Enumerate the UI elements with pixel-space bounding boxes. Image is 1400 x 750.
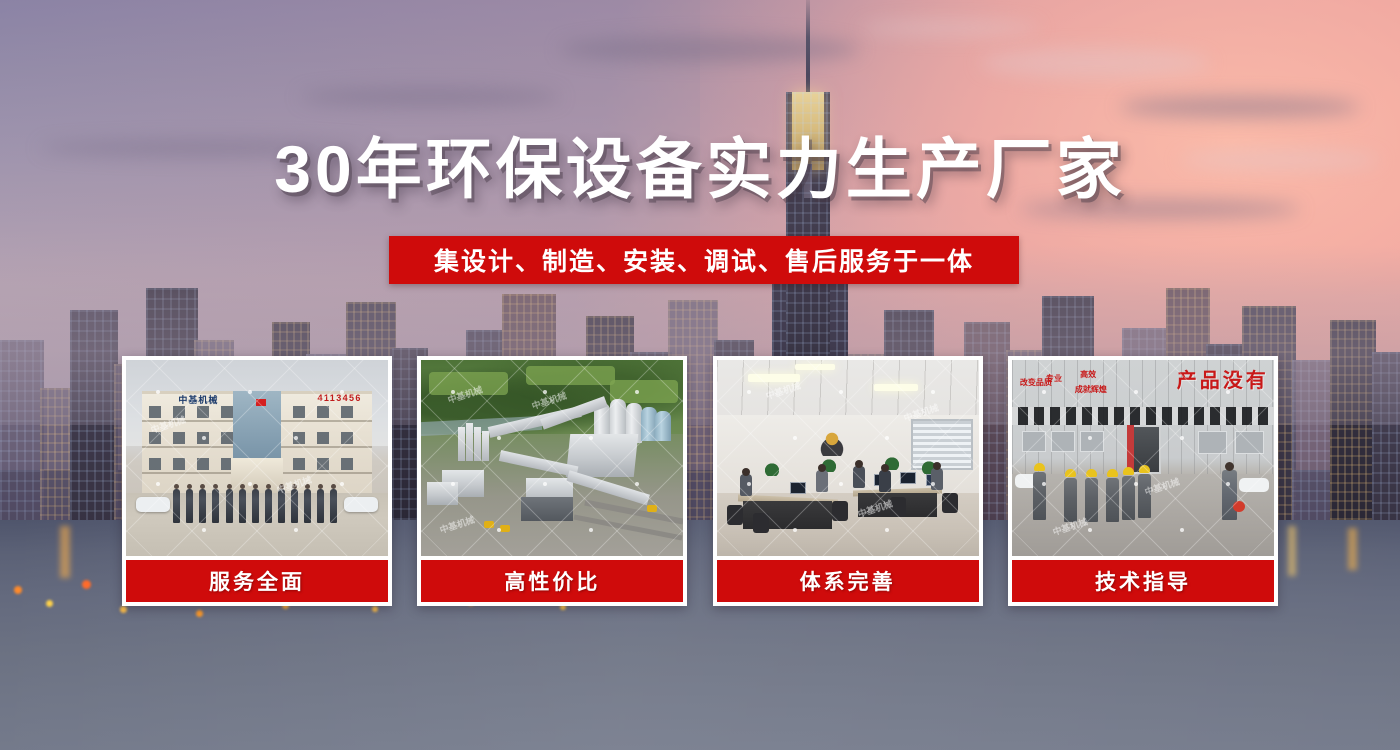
feature-card-caption: 技术指导	[1012, 560, 1274, 602]
feature-card[interactable]: 中基机械 4113456 中基机械 中基机械 服务全面	[122, 356, 392, 606]
subtitle-text: 集设计、制造、安装、调试、售后服务于一体	[434, 242, 974, 278]
page-title: 30年环保设备实力生产厂家	[0, 136, 1400, 202]
subtitle-bar: 集设计、制造、安装、调试、售后服务于一体	[389, 236, 1019, 284]
aerial-factory-plant-photo: 中基机械 中基机械 中基机械	[421, 360, 683, 556]
feature-card-caption-text: 高性价比	[504, 566, 600, 596]
feature-card[interactable]: 中基机械 中基机械 中基机械 高性价比	[417, 356, 687, 606]
office-building-staff-photo: 中基机械 4113456 中基机械 中基机械	[126, 360, 388, 556]
feature-card-caption: 服务全面	[126, 560, 388, 602]
building-phone-number: 4113456	[317, 393, 361, 403]
feature-card-caption: 体系完善	[717, 560, 979, 602]
factory-slogan: 高效	[1080, 370, 1096, 379]
workers-training-factory-photo: 产品没有 改变品质 专业 高效 成就辉煌	[1012, 360, 1274, 556]
building-company-sign: 中基机械	[178, 393, 218, 406]
feature-card-caption-text: 体系完善	[800, 566, 896, 596]
feature-card[interactable]: 中基机械 中基机械 中基机械 体系完善	[713, 356, 983, 606]
factory-slogan: 成就辉煌	[1075, 385, 1107, 394]
factory-wall-sign: 产品没有	[1177, 364, 1269, 393]
tower-spire	[806, 0, 810, 94]
promo-banner: 30年环保设备实力生产厂家 集设计、制造、安装、调试、售后服务于一体	[0, 0, 1400, 750]
feature-card[interactable]: 产品没有 改变品质 专业 高效 成就辉煌	[1008, 356, 1278, 606]
factory-slogan: 专业	[1046, 374, 1062, 383]
feature-card-caption-text: 技术指导	[1095, 566, 1191, 596]
feature-card-list: 中基机械 4113456 中基机械 中基机械 服务全面	[122, 356, 1278, 606]
feature-card-caption: 高性价比	[421, 560, 683, 602]
feature-card-caption-text: 服务全面	[209, 566, 305, 596]
office-interior-staff-photo: 中基机械 中基机械 中基机械	[717, 360, 979, 556]
wall-logo	[811, 425, 853, 456]
